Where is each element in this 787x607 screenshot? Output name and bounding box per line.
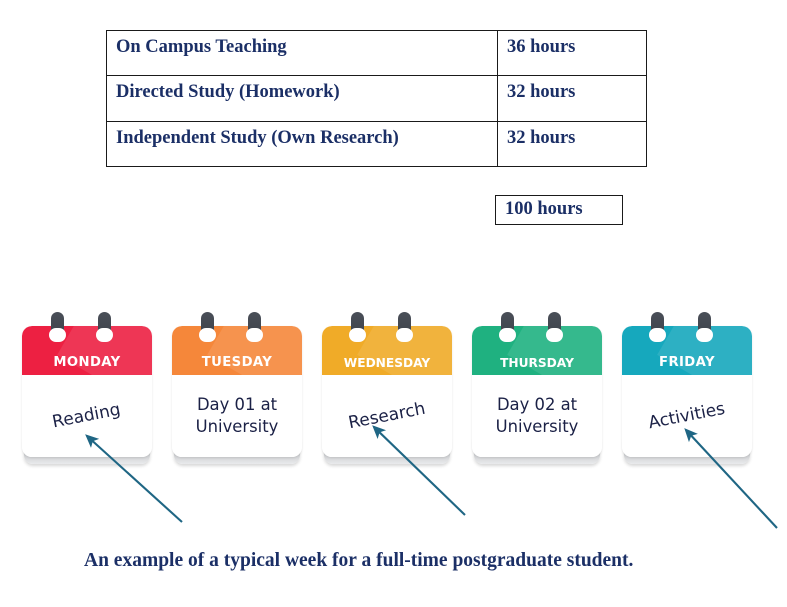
activity-label-cell: On Campus Teaching bbox=[107, 31, 498, 76]
calendar-rings bbox=[472, 312, 602, 342]
ring-cap bbox=[96, 328, 113, 342]
hours-table-body: On Campus Teaching 36 hours Directed Stu… bbox=[107, 31, 647, 167]
calendar-rings bbox=[622, 312, 752, 342]
activity-hours-cell: 32 hours bbox=[498, 121, 647, 166]
calendar-activity-text: Day 02 at University bbox=[492, 394, 583, 438]
ring-cap bbox=[546, 328, 563, 342]
ring-cap bbox=[246, 328, 263, 342]
calendar-card-tuesday: TUESDAY Day 01 at University bbox=[172, 312, 302, 464]
calendar-rings bbox=[322, 312, 452, 342]
calendar-card-wednesday: WEDNESDAY Research bbox=[322, 312, 452, 464]
calendar-day-label: FRIDAY bbox=[622, 355, 752, 370]
calendar-card-friday: FRIDAY Activities bbox=[622, 312, 752, 464]
table-row: On Campus Teaching 36 hours bbox=[107, 31, 647, 76]
calendar-body: Day 02 at University bbox=[472, 375, 602, 457]
calendar-rings bbox=[22, 312, 152, 342]
calendar-activity-text: Reading bbox=[47, 397, 127, 434]
calendar-day-label: WEDNESDAY bbox=[322, 356, 452, 370]
calendar-day-label: TUESDAY bbox=[172, 355, 302, 370]
calendar-activity-text: Activities bbox=[643, 397, 731, 436]
calendar-body: Reading bbox=[22, 375, 152, 457]
calendar-body: Day 01 at University bbox=[172, 375, 302, 457]
table-row: Directed Study (Homework) 32 hours bbox=[107, 76, 647, 121]
calendar-card-body: WEDNESDAY Research bbox=[322, 326, 452, 457]
total-hours-box: 100 hours bbox=[495, 195, 623, 225]
ring-cap bbox=[696, 328, 713, 342]
calendar-card-body: FRIDAY Activities bbox=[622, 326, 752, 457]
hours-breakdown-table: On Campus Teaching 36 hours Directed Stu… bbox=[106, 30, 647, 167]
activity-hours-cell: 36 hours bbox=[498, 31, 647, 76]
calendar-card-body: MONDAY Reading bbox=[22, 326, 152, 457]
caption-text: An example of a typical week for a full-… bbox=[84, 550, 633, 572]
activity-hours-cell: 32 hours bbox=[498, 76, 647, 121]
calendar-card-monday: MONDAY Reading bbox=[22, 312, 152, 464]
ring-cap bbox=[199, 328, 216, 342]
activity-label-cell: Directed Study (Homework) bbox=[107, 76, 498, 121]
ring-cap bbox=[349, 328, 366, 342]
calendar-rings bbox=[172, 312, 302, 342]
activity-label-cell: Independent Study (Own Research) bbox=[107, 121, 498, 166]
calendar-card-body: TUESDAY Day 01 at University bbox=[172, 326, 302, 457]
calendar-day-label: THURSDAY bbox=[472, 356, 602, 370]
ring-cap bbox=[499, 328, 516, 342]
calendar-card-body: THURSDAY Day 02 at University bbox=[472, 326, 602, 457]
calendar-card-thursday: THURSDAY Day 02 at University bbox=[472, 312, 602, 464]
calendar-day-label: MONDAY bbox=[22, 355, 152, 370]
ring-cap bbox=[396, 328, 413, 342]
table-row: Independent Study (Own Research) 32 hour… bbox=[107, 121, 647, 166]
calendar-activity-text: Research bbox=[343, 397, 432, 436]
calendar-body: Research bbox=[322, 375, 452, 457]
calendar-body: Activities bbox=[622, 375, 752, 457]
ring-cap bbox=[649, 328, 666, 342]
ring-cap bbox=[49, 328, 66, 342]
weekly-calendar-row: MONDAY Reading TUESDAY Day 01 at Univers… bbox=[22, 312, 767, 467]
calendar-activity-text: Day 01 at University bbox=[192, 394, 283, 438]
